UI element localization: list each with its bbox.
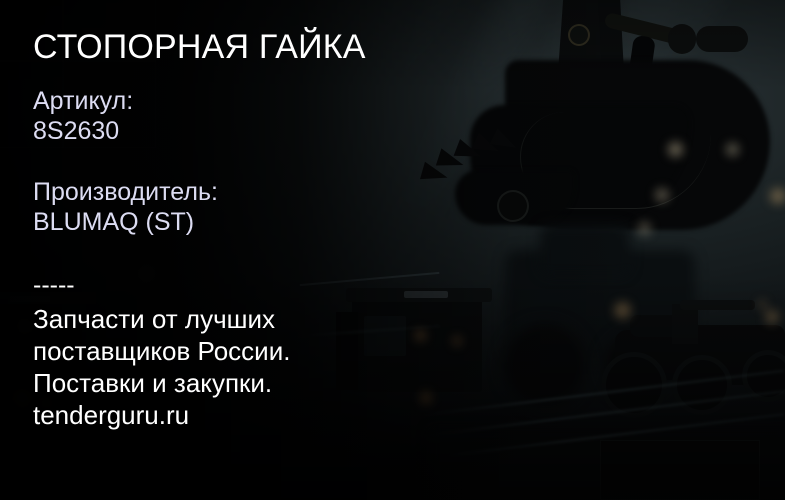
- site-url: tenderguru.ru: [33, 399, 290, 431]
- manufacturer-field: Производитель: BLUMAQ (ST): [33, 177, 218, 237]
- sku-value: 8S2630: [33, 116, 133, 146]
- tagline-line-1: Запчасти от лучших: [33, 303, 290, 335]
- product-copy: СТОПОРНАЯ ГАЙКА Артикул: 8S2630 Производ…: [33, 0, 453, 500]
- manufacturer-value: BLUMAQ (ST): [33, 207, 218, 237]
- text-divider: -----: [33, 272, 75, 298]
- page-title: СТОПОРНАЯ ГАЙКА: [33, 27, 366, 67]
- sku-label: Артикул:: [33, 87, 133, 115]
- manufacturer-label: Производитель:: [33, 178, 218, 206]
- tagline-line-2: поставщиков России.: [33, 335, 290, 367]
- sku-field: Артикул: 8S2630: [33, 86, 133, 146]
- product-promo-card: СТОПОРНАЯ ГАЙКА Артикул: 8S2630 Производ…: [0, 0, 785, 500]
- tagline-block: Запчасти от лучших поставщиков России. П…: [33, 303, 290, 431]
- tagline-line-3: Поставки и закупки.: [33, 367, 290, 399]
